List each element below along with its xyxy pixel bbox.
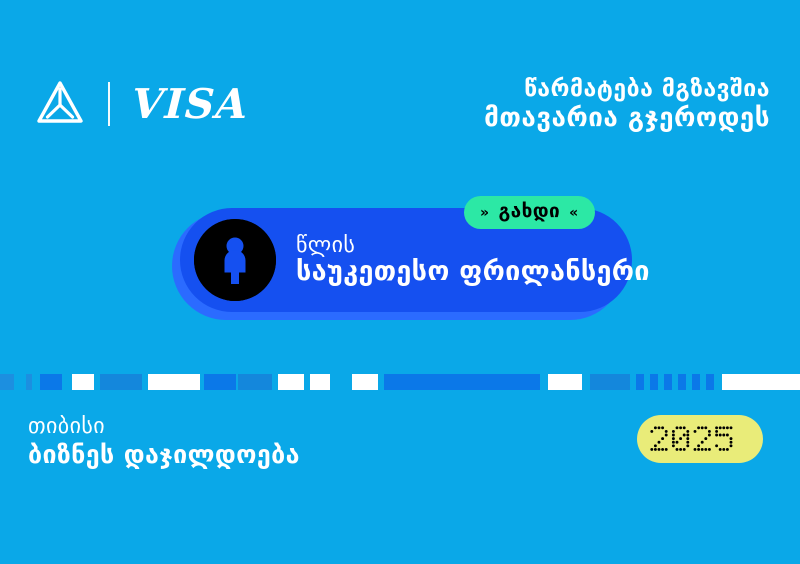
- visa-wordmark: VISA: [131, 84, 250, 125]
- award-text-block: წლის საუკეთესო ფრილანსერი: [296, 234, 650, 287]
- award-kicker: წლის: [296, 234, 650, 258]
- divider-dash: [590, 374, 630, 390]
- divider-dash: [650, 374, 658, 390]
- year-dot-matrix-text: [648, 422, 752, 456]
- award-title: საუკეთესო ფრილანსერი: [296, 257, 650, 286]
- divider-dash: [722, 374, 800, 390]
- cta-badge-label: გახდი: [498, 202, 560, 221]
- divider-dash: [678, 374, 686, 390]
- divider-dash: [278, 374, 304, 390]
- divider-dash: [548, 374, 582, 390]
- divider-dash: [352, 374, 378, 390]
- divider-dash: [100, 374, 142, 390]
- logo-divider: [108, 82, 110, 126]
- divider-dash: [204, 374, 236, 390]
- divider-dash: [40, 374, 62, 390]
- footer-line-1: თიბისი: [28, 414, 300, 440]
- divider-dash: [72, 374, 94, 390]
- divider-dash: [148, 374, 200, 390]
- year-badge: [637, 415, 763, 463]
- promo-banner: VISA წარმატება მგზავშია მთავარია გჯეროდე…: [0, 0, 800, 564]
- divider-dash: [310, 374, 330, 390]
- divider-dash: [692, 374, 700, 390]
- slogan-line-1: წარმატება მგზავშია: [484, 76, 770, 103]
- dashed-divider: [0, 374, 800, 390]
- divider-dash: [238, 374, 272, 390]
- divider-dash: [0, 374, 14, 390]
- divider-dash: [16, 374, 26, 390]
- tbc-triangle-logo-icon: [36, 80, 84, 128]
- divider-dash: [26, 374, 32, 390]
- divider-dash: [664, 374, 672, 390]
- double-arrow-left-icon: «: [569, 206, 578, 220]
- become-cta-badge[interactable]: » გახდი «: [464, 196, 595, 229]
- brand-logo-row: VISA: [36, 76, 248, 132]
- slogan-block: წარმატება მგზავშია მთავარია გჯეროდეს: [484, 76, 770, 134]
- footer-line-2: ბიზნეს დაჯილდოება: [28, 440, 300, 470]
- footer-text-block: თიბისი ბიზნეს დაჯილდოება: [28, 414, 300, 470]
- divider-dash: [384, 374, 540, 390]
- divider-dash: [706, 374, 714, 390]
- person-avatar-icon: [194, 219, 276, 301]
- divider-dash: [636, 374, 644, 390]
- slogan-line-2: მთავარია გჯეროდეს: [484, 103, 770, 134]
- double-arrow-right-icon: »: [480, 206, 489, 220]
